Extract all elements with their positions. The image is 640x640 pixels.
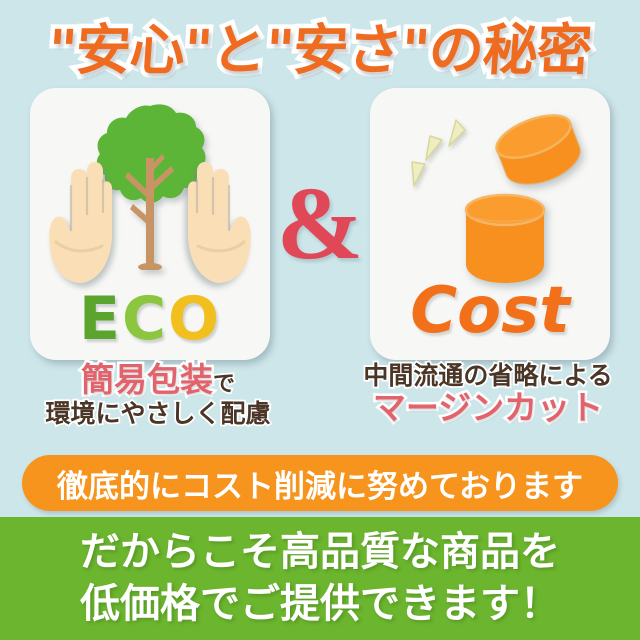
caption-eco-main: 簡易包装 [81, 360, 213, 399]
caption-cost: 中間流通の省略による マージンカット [338, 362, 638, 426]
footer-line-1: だからこそ高品質な商品を [80, 527, 560, 578]
open-hand-right-icon [184, 156, 254, 284]
caption-cost-line-1: 中間流通の省略による [338, 362, 638, 389]
cost-reduction-banner: 徹底的にコスト削減に努めております [22, 455, 618, 511]
impact-spark-icon [408, 118, 480, 192]
caption-eco-suffix: で [213, 371, 235, 396]
footer-line-2: 低価格でご提供できます！ [80, 579, 560, 630]
cylinder-lid-flying-icon [488, 112, 588, 190]
feature-card-eco: ECO [30, 88, 270, 360]
page-title: "安心"と"安さ"の秘密 [0, 6, 640, 84]
eco-wordmark: ECO [30, 284, 270, 354]
cost-reduction-banner-text: 徹底的にコスト削減に努めております [57, 461, 583, 506]
open-hand-left-icon [46, 156, 116, 284]
ampersand-separator: & [270, 172, 370, 276]
cost-illustration [370, 96, 610, 296]
eco-letter-e: E [79, 284, 122, 354]
eco-letter-c: C [122, 284, 168, 354]
cylinder-icon [462, 192, 548, 286]
feature-card-cost: Cost [370, 88, 610, 360]
caption-eco-line-1: 簡易包装で [8, 362, 308, 398]
caption-eco: 簡易包装で 環境にやさしく配慮 [8, 362, 308, 427]
cost-wordmark: Cost [370, 274, 610, 348]
caption-eco-line-2: 環境にやさしく配慮 [8, 400, 308, 427]
footer-message: だからこそ高品質な商品を 低価格でご提供できます！ [0, 517, 640, 640]
eco-letter-o: O [168, 284, 221, 354]
promotional-banner: "安心"と"安さ"の秘密 [0, 0, 640, 640]
caption-cost-line-2: マージンカット [338, 390, 638, 426]
eco-illustration [30, 98, 270, 298]
